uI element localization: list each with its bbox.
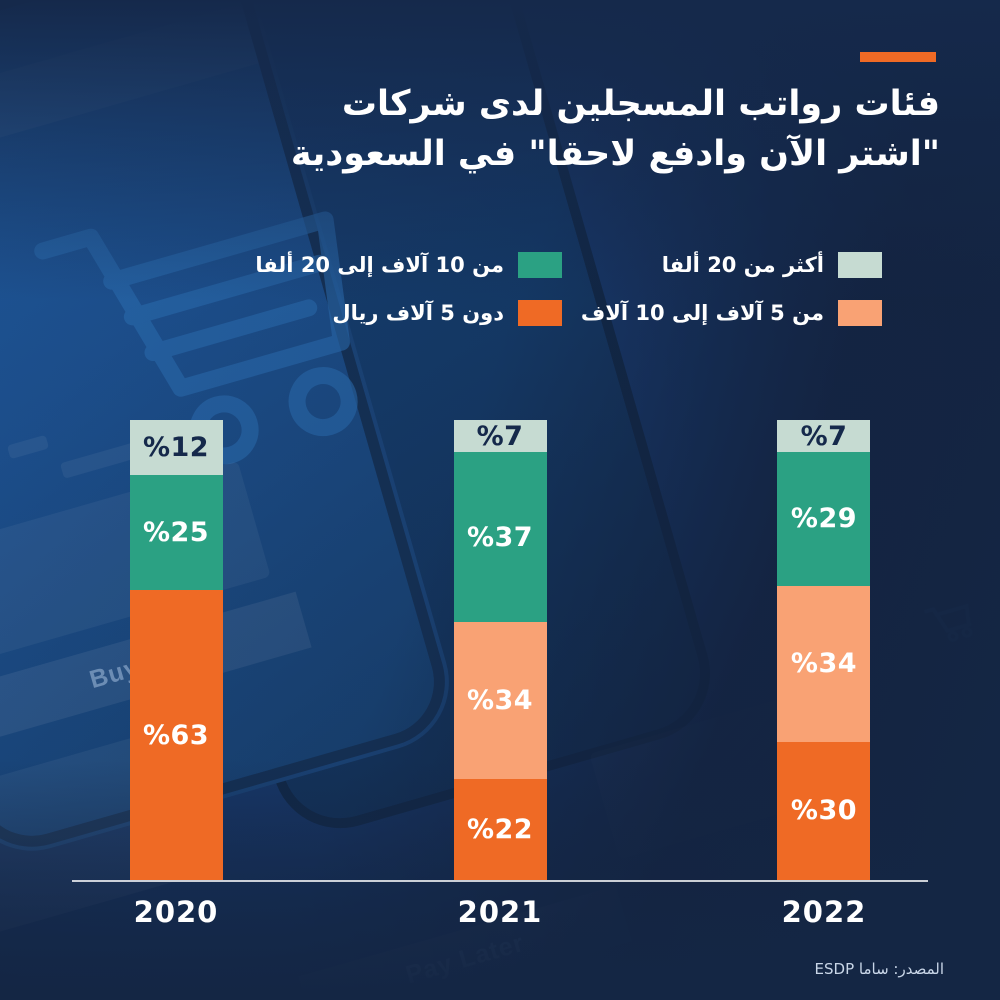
legend-row-2: من 5 آلاف إلى 10 آلاف دون 5 آلاف ريال <box>112 300 882 326</box>
bar-segment[interactable]: %34 <box>777 586 870 742</box>
x-axis-label-2021: 2021 <box>420 895 580 929</box>
title-line-2: "اشتر الآن وادفع لاحقا" في السعودية <box>220 130 940 180</box>
bar-segment[interactable]: %12 <box>130 420 223 475</box>
bars-container: %12%25%63%7%37%34%22%7%29%34%30 <box>72 400 928 880</box>
legend-label-under5k: دون 5 آلاف ريال <box>332 301 504 325</box>
bar-segment[interactable]: %63 <box>130 590 223 880</box>
legend-swatch-5k-10k <box>838 300 882 326</box>
bar-column-2021: %7%37%34%22 <box>454 420 547 880</box>
bar-segment[interactable]: %29 <box>777 452 870 585</box>
bar-segment[interactable]: %22 <box>454 779 547 880</box>
bar-segment-label: %22 <box>467 814 533 845</box>
x-axis-line <box>72 880 928 882</box>
bar-segment[interactable]: %37 <box>454 452 547 622</box>
bar-segment[interactable]: %7 <box>454 420 547 452</box>
bar-segment-label: %7 <box>801 421 848 452</box>
title-line-1: فئات رواتب المسجلين لدى شركات <box>342 84 940 124</box>
legend-label-over20k: أكثر من 20 ألفا <box>662 253 824 277</box>
bar-segment-label: %34 <box>467 685 533 716</box>
accent-bar <box>860 52 936 62</box>
bar-segment-label: %29 <box>791 503 857 534</box>
bar-segment-label: %30 <box>791 795 857 826</box>
bar-segment[interactable]: %30 <box>777 742 870 880</box>
bar-segment[interactable]: %25 <box>130 475 223 590</box>
x-axis-label-2022: 2022 <box>744 895 904 929</box>
stacked-bar-chart: %12%25%63%7%37%34%22%7%29%34%30 20202021… <box>0 400 1000 900</box>
bar-column-2022: %7%29%34%30 <box>777 420 870 880</box>
legend-row-1: أكثر من 20 ألفا من 10 آلاف إلى 20 ألفا <box>112 252 882 278</box>
bar-column-2020: %12%25%63 <box>130 420 223 880</box>
page-title: فئات رواتب المسجلين لدى شركات "اشتر الآن… <box>220 80 940 179</box>
legend-item-under5k[interactable]: دون 5 آلاف ريال <box>182 300 562 326</box>
legend-item-10k-20k[interactable]: من 10 آلاف إلى 20 ألفا <box>182 252 562 278</box>
legend-item-5k-10k[interactable]: من 5 آلاف إلى 10 آلاف <box>562 300 882 326</box>
legend-label-10k-20k: من 10 آلاف إلى 20 ألفا <box>255 253 504 277</box>
x-axis-label-2020: 2020 <box>96 895 256 929</box>
infographic-canvas: Buy Now Pay Later فئات رواتب المسجلين لد… <box>0 0 1000 1000</box>
bar-segment-label: %37 <box>467 522 533 553</box>
bar-segment[interactable]: %34 <box>454 622 547 778</box>
bar-segment-label: %34 <box>791 648 857 679</box>
bar-segment-label: %7 <box>477 421 524 452</box>
legend-swatch-under5k <box>518 300 562 326</box>
legend-swatch-over20k <box>838 252 882 278</box>
bar-segment-label: %12 <box>143 432 209 463</box>
source-note: المصدر: ساما ESDP <box>815 960 944 978</box>
legend-label-5k-10k: من 5 آلاف إلى 10 آلاف <box>581 301 824 325</box>
bar-segment-label: %63 <box>143 720 209 751</box>
legend-swatch-10k-20k <box>518 252 562 278</box>
legend-item-over20k[interactable]: أكثر من 20 ألفا <box>562 252 882 278</box>
bar-segment-label: %25 <box>143 517 209 548</box>
chart-legend: أكثر من 20 ألفا من 10 آلاف إلى 20 ألفا م… <box>112 252 882 348</box>
content-layer: فئات رواتب المسجلين لدى شركات "اشتر الآن… <box>0 0 1000 1000</box>
bar-segment[interactable]: %7 <box>777 420 870 452</box>
